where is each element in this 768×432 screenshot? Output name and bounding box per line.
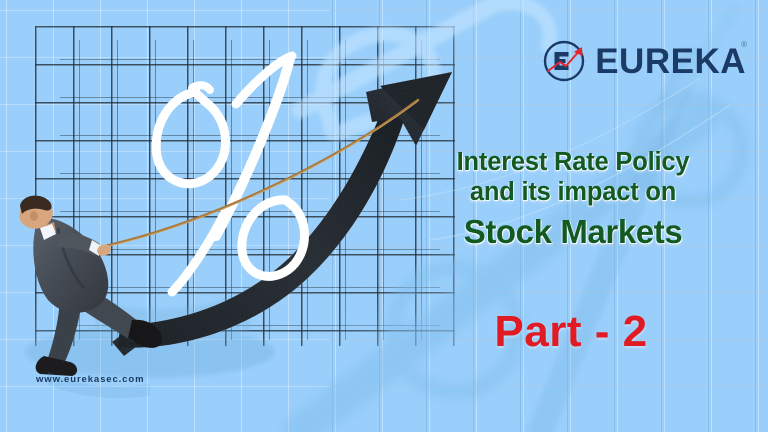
headline-line-1: Interest Rate Policy bbox=[408, 148, 738, 178]
promo-banner: EUREKA ® Interest Rate Policy and its im… bbox=[0, 0, 768, 432]
headline-line-2: and its impact on bbox=[408, 178, 738, 208]
brand-logo[interactable]: EUREKA ® bbox=[541, 38, 746, 84]
headline-block: Interest Rate Policy and its impact on S… bbox=[408, 148, 738, 251]
part-label: Part - 2 bbox=[406, 310, 736, 354]
registered-trademark-mark: ® bbox=[741, 40, 747, 49]
percent-symbol bbox=[156, 56, 304, 292]
brand-name: EUREKA bbox=[595, 42, 746, 81]
eureka-circle-e-arrow-icon bbox=[541, 38, 587, 84]
website-url[interactable]: www.eurekasec.com bbox=[36, 374, 144, 385]
headline-line-3: Stock Markets bbox=[408, 213, 738, 252]
